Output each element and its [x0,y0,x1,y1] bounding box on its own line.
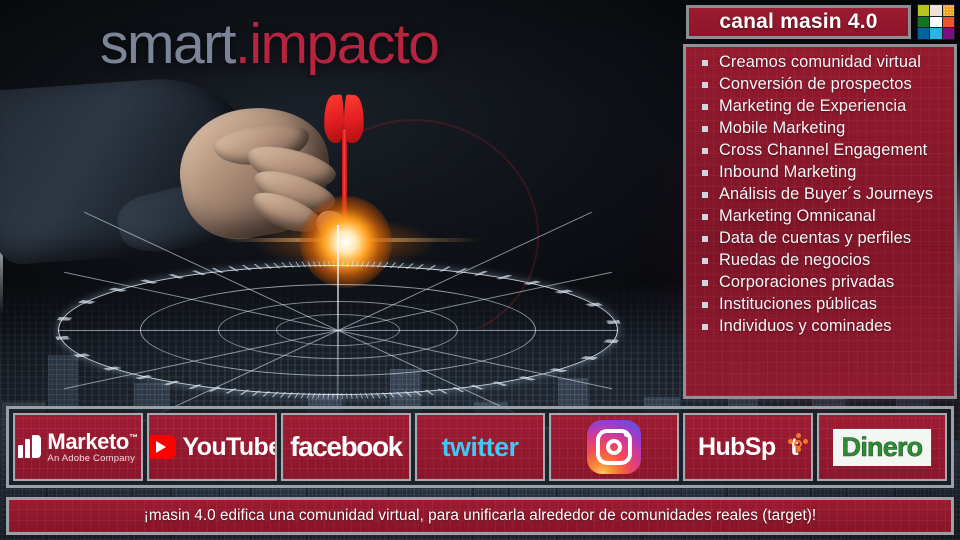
color-grid-logo [917,4,955,40]
feature-list-item: Marketing Omnicanal [696,207,946,226]
facebook-wordmark: facebook [290,431,402,463]
title-word-smart: smart [100,12,235,76]
feature-list-item: Marketing de Experiencia [696,97,946,116]
swatch-6 [943,17,954,28]
trademark-icon: ™ [129,432,138,442]
feature-list-item: Cross Channel Engagement [696,141,946,160]
channel-title-bar: canal masin 4.0 [686,5,911,39]
hubspot-sprocket-icon [789,435,806,452]
feature-list-item: Mobile Marketing [696,119,946,138]
feature-list-item: Análisis de Buyer´s Journeys [696,185,946,204]
feature-list-item: Inbound Marketing [696,163,946,182]
feature-list-item: Instituciones públicas [696,295,946,314]
swatch-8 [930,28,941,39]
swatch-4 [918,17,929,28]
swatch-3 [943,5,954,16]
title-word-impacto: impacto [249,12,438,76]
logo-cell-dinero[interactable]: Dinero [817,413,947,481]
youtube-wordmark: YouTube [182,433,277,462]
feature-list-item: Ruedas de negocios [696,251,946,270]
marketo-wordmark: Marketo [47,429,129,454]
instagram-camera-icon [587,420,641,474]
logo-cell-twitter[interactable]: twitter [415,413,545,481]
logo-cell-facebook[interactable]: facebook [281,413,411,481]
features-panel: Creamos comunidad virtualConversión de p… [683,44,957,399]
feature-list-item: Individuos y cominades [696,317,946,336]
marketo-mark-icon [18,436,41,458]
features-list: Creamos comunidad virtualConversión de p… [686,47,954,336]
hubspot-wordmark: HubSpot [698,433,798,462]
slide-canvas: smart.impacto canal masin 4.0 Creamos co… [0,0,960,540]
feature-list-item: Conversión de prospectos [696,75,946,94]
twitter-wordmark: twitter [442,432,519,463]
page-title: smart.impacto [100,16,438,73]
logo-cell-youtube[interactable]: YouTube [147,413,277,481]
dinero-plate: Dinero [833,429,932,466]
partner-logo-strip: Marketo™ An Adobe Company YouTube facebo… [6,406,954,488]
dinero-wordmark: Dinero [842,432,923,463]
target-center-axis [337,225,339,395]
hologram-target-disc [58,265,618,395]
youtube-play-icon [147,435,176,459]
swatch-2 [930,5,941,16]
swatch-5 [930,17,941,28]
swatch-9 [943,28,954,39]
swatch-7 [918,28,929,39]
logo-cell-instagram[interactable] [549,413,679,481]
footer-caption-bar: ¡masin 4.0 edifica una comunidad virtual… [6,497,954,535]
swatch-1 [918,5,929,16]
feature-list-item: Data de cuentas y perfiles [696,229,946,248]
title-dot: . [235,12,249,76]
channel-title-label: canal masin 4.0 [719,10,877,34]
feature-list-item: Corporaciones privadas [696,273,946,292]
logo-cell-hubspot[interactable]: HubSpot [683,413,813,481]
feature-list-item: Creamos comunidad virtual [696,53,946,72]
logo-cell-marketo[interactable]: Marketo™ An Adobe Company [13,413,143,481]
footer-caption-text: ¡masin 4.0 edifica una comunidad virtual… [144,507,816,525]
marketo-subtitle: An Adobe Company [47,454,137,464]
